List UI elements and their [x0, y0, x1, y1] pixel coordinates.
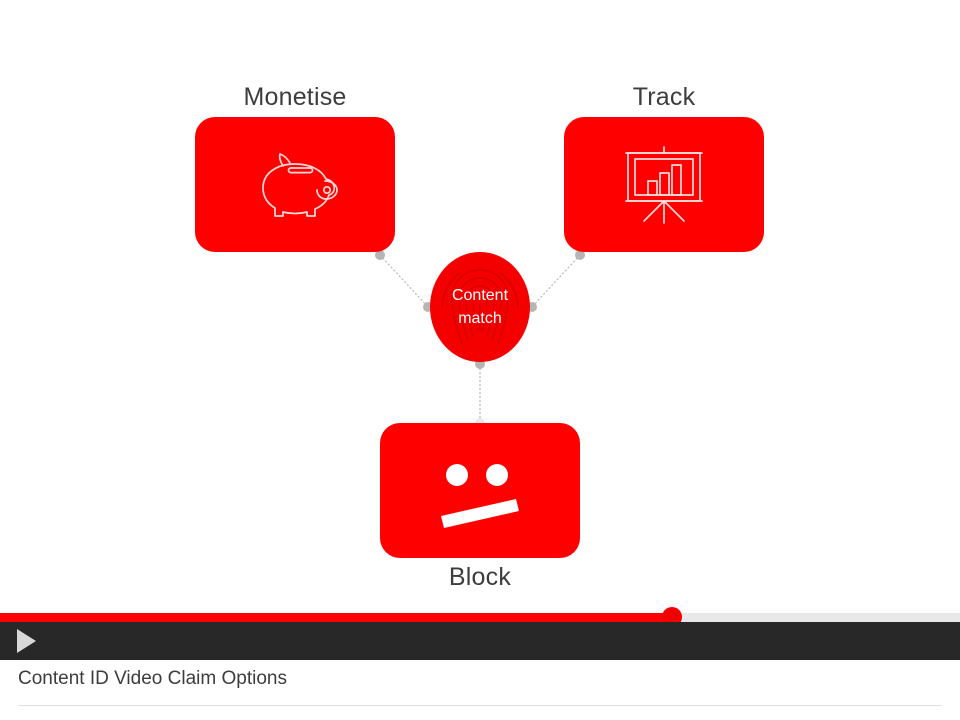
slide-canvas: Monetise Track [0, 0, 960, 604]
node-card-track[interactable] [564, 117, 764, 252]
hub-text-line2: match [452, 307, 508, 330]
piggy-bank-icon [247, 148, 343, 222]
hub-text-line1: Content [452, 284, 508, 307]
node-label-track: Track [564, 83, 764, 112]
connector-track-to-hub [532, 255, 580, 307]
presentation-chart-icon [620, 143, 708, 227]
hub-text: Content match [452, 284, 508, 330]
node-card-block[interactable] [380, 423, 580, 558]
progress-bar-fill [0, 613, 672, 622]
content-match-hub[interactable]: Content match [430, 252, 530, 362]
video-player-bar [0, 604, 960, 660]
connector-monetise-to-hub [380, 255, 428, 307]
sad-face-blocked-icon [425, 451, 535, 531]
progress-bar-track[interactable] [0, 613, 960, 622]
node-label-monetise: Monetise [195, 83, 395, 112]
play-icon[interactable] [17, 629, 36, 653]
video-title: Content ID Video Claim Options [18, 668, 287, 690]
node-card-monetise[interactable] [195, 117, 395, 252]
caption-divider [18, 705, 942, 706]
node-label-block: Block [380, 563, 580, 592]
player-controls-bar [0, 622, 960, 660]
